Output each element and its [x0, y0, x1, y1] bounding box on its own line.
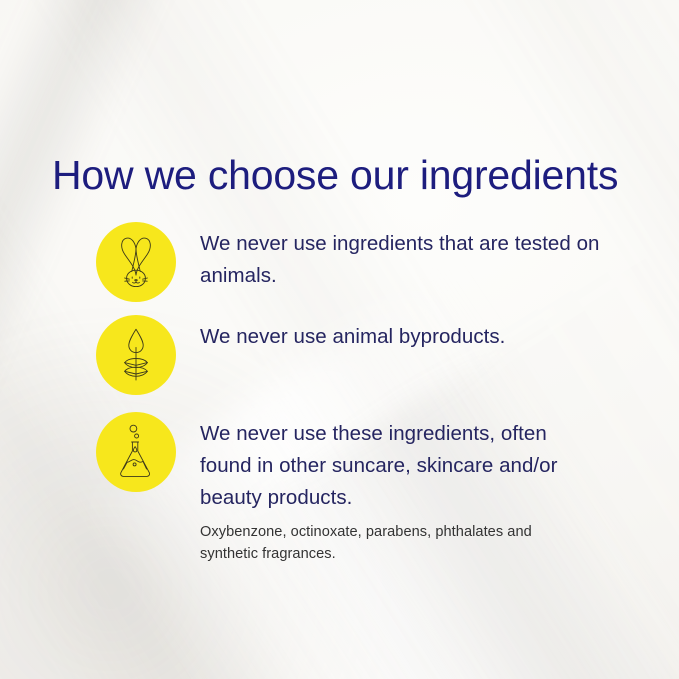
list-item-title: We never use animal byproducts.: [200, 321, 600, 353]
list-item: We never use these ingredients, often fo…: [96, 412, 616, 565]
ingredient-principles-panel: How we choose our ingredients: [0, 0, 679, 679]
list-item-title: We never use ingredients that are tested…: [200, 228, 600, 292]
list-item-text: We never use animal byproducts.: [176, 315, 616, 353]
principles-list: We never use ingredients that are tested…: [96, 222, 616, 565]
list-item: We never use animal byproducts.: [96, 315, 616, 395]
bunny-heart-ears-icon: [112, 234, 160, 290]
icon-badge-plant-based: [96, 315, 176, 395]
page-title: How we choose our ingredients: [52, 149, 618, 201]
erlenmeyer-flask-icon: [114, 424, 158, 480]
list-item-text: We never use these ingredients, often fo…: [176, 412, 616, 565]
list-item: We never use ingredients that are tested…: [96, 222, 616, 302]
plant-sprig-icon: [115, 327, 157, 383]
list-item-note: Oxybenzone, octinoxate, parabens, phthal…: [200, 521, 572, 565]
icon-badge-cruelty-free: [96, 222, 176, 302]
list-item-text: We never use ingredients that are tested…: [176, 222, 616, 292]
icon-badge-no-chemicals: [96, 412, 176, 492]
list-item-title: We never use these ingredients, often fo…: [200, 418, 602, 514]
